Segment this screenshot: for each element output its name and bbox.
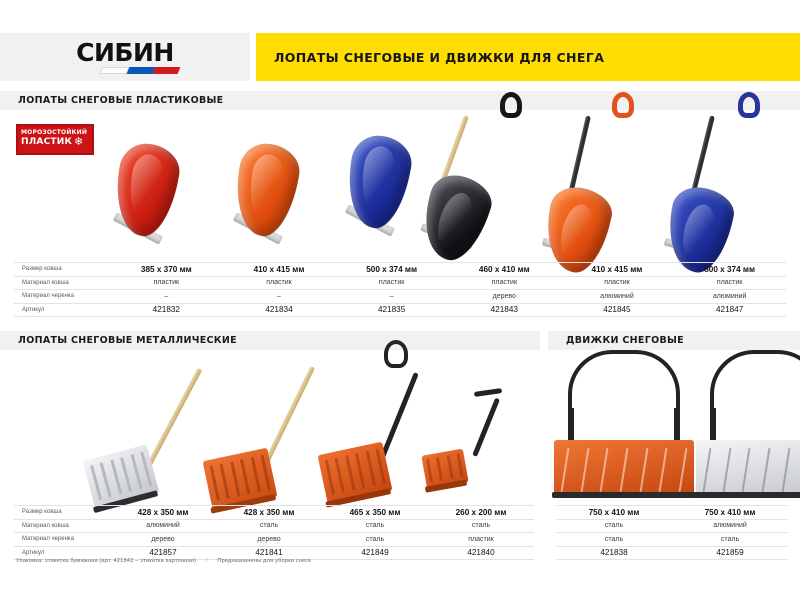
cell-handle: дерево xyxy=(110,533,216,547)
cell-article: 421838 xyxy=(556,546,672,560)
d-grip-handle xyxy=(500,92,522,118)
frost-resistant-badge: МОРОЗОСТОЙКИЙ ПЛАСТИК ❄ xyxy=(16,124,94,155)
d-grip-handle xyxy=(612,92,634,118)
shaft xyxy=(472,398,500,457)
footnote-purpose: Предназначены для уборки снега xyxy=(217,558,311,564)
cell-handle: – xyxy=(335,290,448,304)
cell-size: 460 х 410 мм xyxy=(448,263,561,277)
cell-blade: сталь xyxy=(216,519,322,533)
cell-article: 421849 xyxy=(322,546,428,560)
section-title-metal: ЛОПАТЫ СНЕГОВЫЕ МЕТАЛЛИЧЕСКИЕ xyxy=(18,335,237,346)
specs-table-metal: Размер ковша 428 х 350 мм 428 х 350 мм 4… xyxy=(14,505,534,560)
section-title-plastic: ЛОПАТЫ СНЕГОВЫЕ ПЛАСТИКОВЫЕ xyxy=(18,95,223,106)
cell-handle: дерево xyxy=(448,290,561,304)
shaft xyxy=(378,372,419,463)
cell-size: 428 х 350 мм xyxy=(110,506,216,520)
row-label-blade: Материал ковша xyxy=(14,276,110,290)
table-row: Материал ковша алюминий сталь сталь стал… xyxy=(14,519,534,533)
blade-edge xyxy=(694,492,800,498)
footnote-packaging: Упаковка: этикетка бумажная (арт. 421843… xyxy=(16,558,196,564)
cell-article: 421859 xyxy=(672,546,788,560)
table-row: 750 х 410 мм 750 х 410 мм xyxy=(556,506,788,520)
cell-article: 421835 xyxy=(335,303,448,317)
product-snow-shovel-blue-alu xyxy=(660,92,780,267)
cell-article: 421834 xyxy=(223,303,336,317)
table-row: Размер ковша 385 х 370 мм 410 х 415 мм 5… xyxy=(14,263,786,277)
table-row: Материал черенка – – – дерево алюминий а… xyxy=(14,290,786,304)
blade xyxy=(421,449,468,490)
row-label-size: Размер ковша xyxy=(14,506,110,520)
row-label-article: Артикул xyxy=(14,303,110,317)
row-label-blade: Материал ковша xyxy=(14,519,110,533)
blade xyxy=(83,444,160,509)
cell-handle: – xyxy=(110,290,223,304)
product-snow-shovel-compact-orange xyxy=(420,390,530,500)
cell-article: 421832 xyxy=(110,303,223,317)
product-snow-pusher-orange xyxy=(548,348,698,498)
cell-handle: пластик xyxy=(428,533,534,547)
cell-size: 385 х 370 мм xyxy=(110,263,223,277)
cell-handle: дерево xyxy=(216,533,322,547)
cell-size: 428 х 350 мм xyxy=(216,506,322,520)
product-snow-shovel-black-wood xyxy=(418,92,538,267)
t-grip-handle xyxy=(474,388,502,397)
blade-edge xyxy=(552,492,696,498)
cell-blade: алюминий xyxy=(110,519,216,533)
cell-size: 465 х 350 мм xyxy=(322,506,428,520)
d-grip-handle xyxy=(384,340,408,368)
row-label-size: Размер ковша xyxy=(14,263,110,277)
bow-handle xyxy=(568,350,680,446)
logo: СИБИН xyxy=(50,39,200,75)
cell-handle: алюминий xyxy=(673,290,786,304)
cell-blade: пластик xyxy=(673,276,786,290)
table-row: Материал черенка дерево дерево сталь пла… xyxy=(14,533,534,547)
table-row: сталь алюминий xyxy=(556,519,788,533)
cell-size: 410 х 415 мм xyxy=(223,263,336,277)
row-label-handle: Материал черенка xyxy=(14,290,110,304)
cell-article: 421843 xyxy=(448,303,561,317)
product-snow-scoop-red xyxy=(108,138,186,243)
tricolor-stripe-icon xyxy=(100,67,181,74)
d-grip-handle xyxy=(738,92,760,118)
cell-article: 421845 xyxy=(561,303,674,317)
cell-blade: пластик xyxy=(335,276,448,290)
cell-handle: – xyxy=(223,290,336,304)
cell-size: 750 х 410 мм xyxy=(556,506,672,520)
cell-size: 410 х 415 мм xyxy=(561,263,674,277)
section-title-pusher: ДВИЖКИ СНЕГОВЫЕ xyxy=(566,335,684,346)
snowflake-icon: ❄ xyxy=(74,137,83,148)
header-banner: ЛОПАТЫ СНЕГОВЫЕ И ДВИЖКИ ДЛЯ СНЕГА xyxy=(256,33,800,81)
cell-blade: сталь xyxy=(322,519,428,533)
shaft xyxy=(263,366,315,465)
page-header: СИБИН ЛОПАТЫ СНЕГОВЫЕ И ДВИЖКИ ДЛЯ СНЕГА xyxy=(0,33,800,81)
cell-article: 421847 xyxy=(673,303,786,317)
cell-blade: пластик xyxy=(223,276,336,290)
specs-table-pusher: 750 х 410 мм 750 х 410 мм сталь алюминий… xyxy=(556,505,788,560)
table-row: Материал ковша пластик пластик пластик п… xyxy=(14,276,786,290)
specs-table-plastic: Размер ковша 385 х 370 мм 410 х 415 мм 5… xyxy=(14,262,786,317)
footnote-separator: / xyxy=(206,558,208,564)
cell-blade: пластик xyxy=(110,276,223,290)
cell-handle: сталь xyxy=(672,533,788,547)
shaft xyxy=(146,368,202,467)
cell-blade: сталь xyxy=(428,519,534,533)
cell-handle: алюминий xyxy=(561,290,674,304)
product-snow-scoop-orange xyxy=(228,138,306,243)
footnote: Упаковка: этикетка бумажная (арт. 421843… xyxy=(16,558,311,564)
badge-line-2: ПЛАСТИК xyxy=(21,137,72,148)
product-snow-scoop-blue xyxy=(340,130,418,235)
cell-blade: пластик xyxy=(561,276,674,290)
page-title: ЛОПАТЫ СНЕГОВЫЕ И ДВИЖКИ ДЛЯ СНЕГА xyxy=(274,50,604,65)
cell-blade: сталь xyxy=(556,519,672,533)
cell-size: 500 х 374 мм xyxy=(335,263,448,277)
cell-blade: пластик xyxy=(448,276,561,290)
logo-wordmark: СИБИН xyxy=(76,40,174,65)
cell-handle: сталь xyxy=(322,533,428,547)
cell-size: 750 х 410 мм xyxy=(672,506,788,520)
blade-ribs xyxy=(706,448,800,492)
cell-size: 500 х 374 мм xyxy=(673,263,786,277)
cell-size: 260 х 200 мм xyxy=(428,506,534,520)
table-row: 421838 421859 xyxy=(556,546,788,560)
cell-article: 421840 xyxy=(428,546,534,560)
blade xyxy=(318,442,393,505)
cell-blade: алюминий xyxy=(672,519,788,533)
blade-ribs xyxy=(564,448,684,492)
brand-logo-panel: СИБИН xyxy=(0,33,250,81)
product-snow-shovel-orange-alu xyxy=(540,92,660,267)
table-row: сталь сталь xyxy=(556,533,788,547)
table-row: Размер ковша 428 х 350 мм 428 х 350 мм 4… xyxy=(14,506,534,520)
bow-handle xyxy=(710,350,800,446)
blade xyxy=(203,448,278,511)
cell-handle: сталь xyxy=(556,533,672,547)
product-snow-pusher-aluminium xyxy=(690,348,800,498)
catalog-page: СИБИН ЛОПАТЫ СНЕГОВЫЕ И ДВИЖКИ ДЛЯ СНЕГА… xyxy=(0,0,800,600)
table-row: Артикул 421832 421834 421835 421843 4218… xyxy=(14,303,786,317)
row-label-handle: Материал черенка xyxy=(14,533,110,547)
